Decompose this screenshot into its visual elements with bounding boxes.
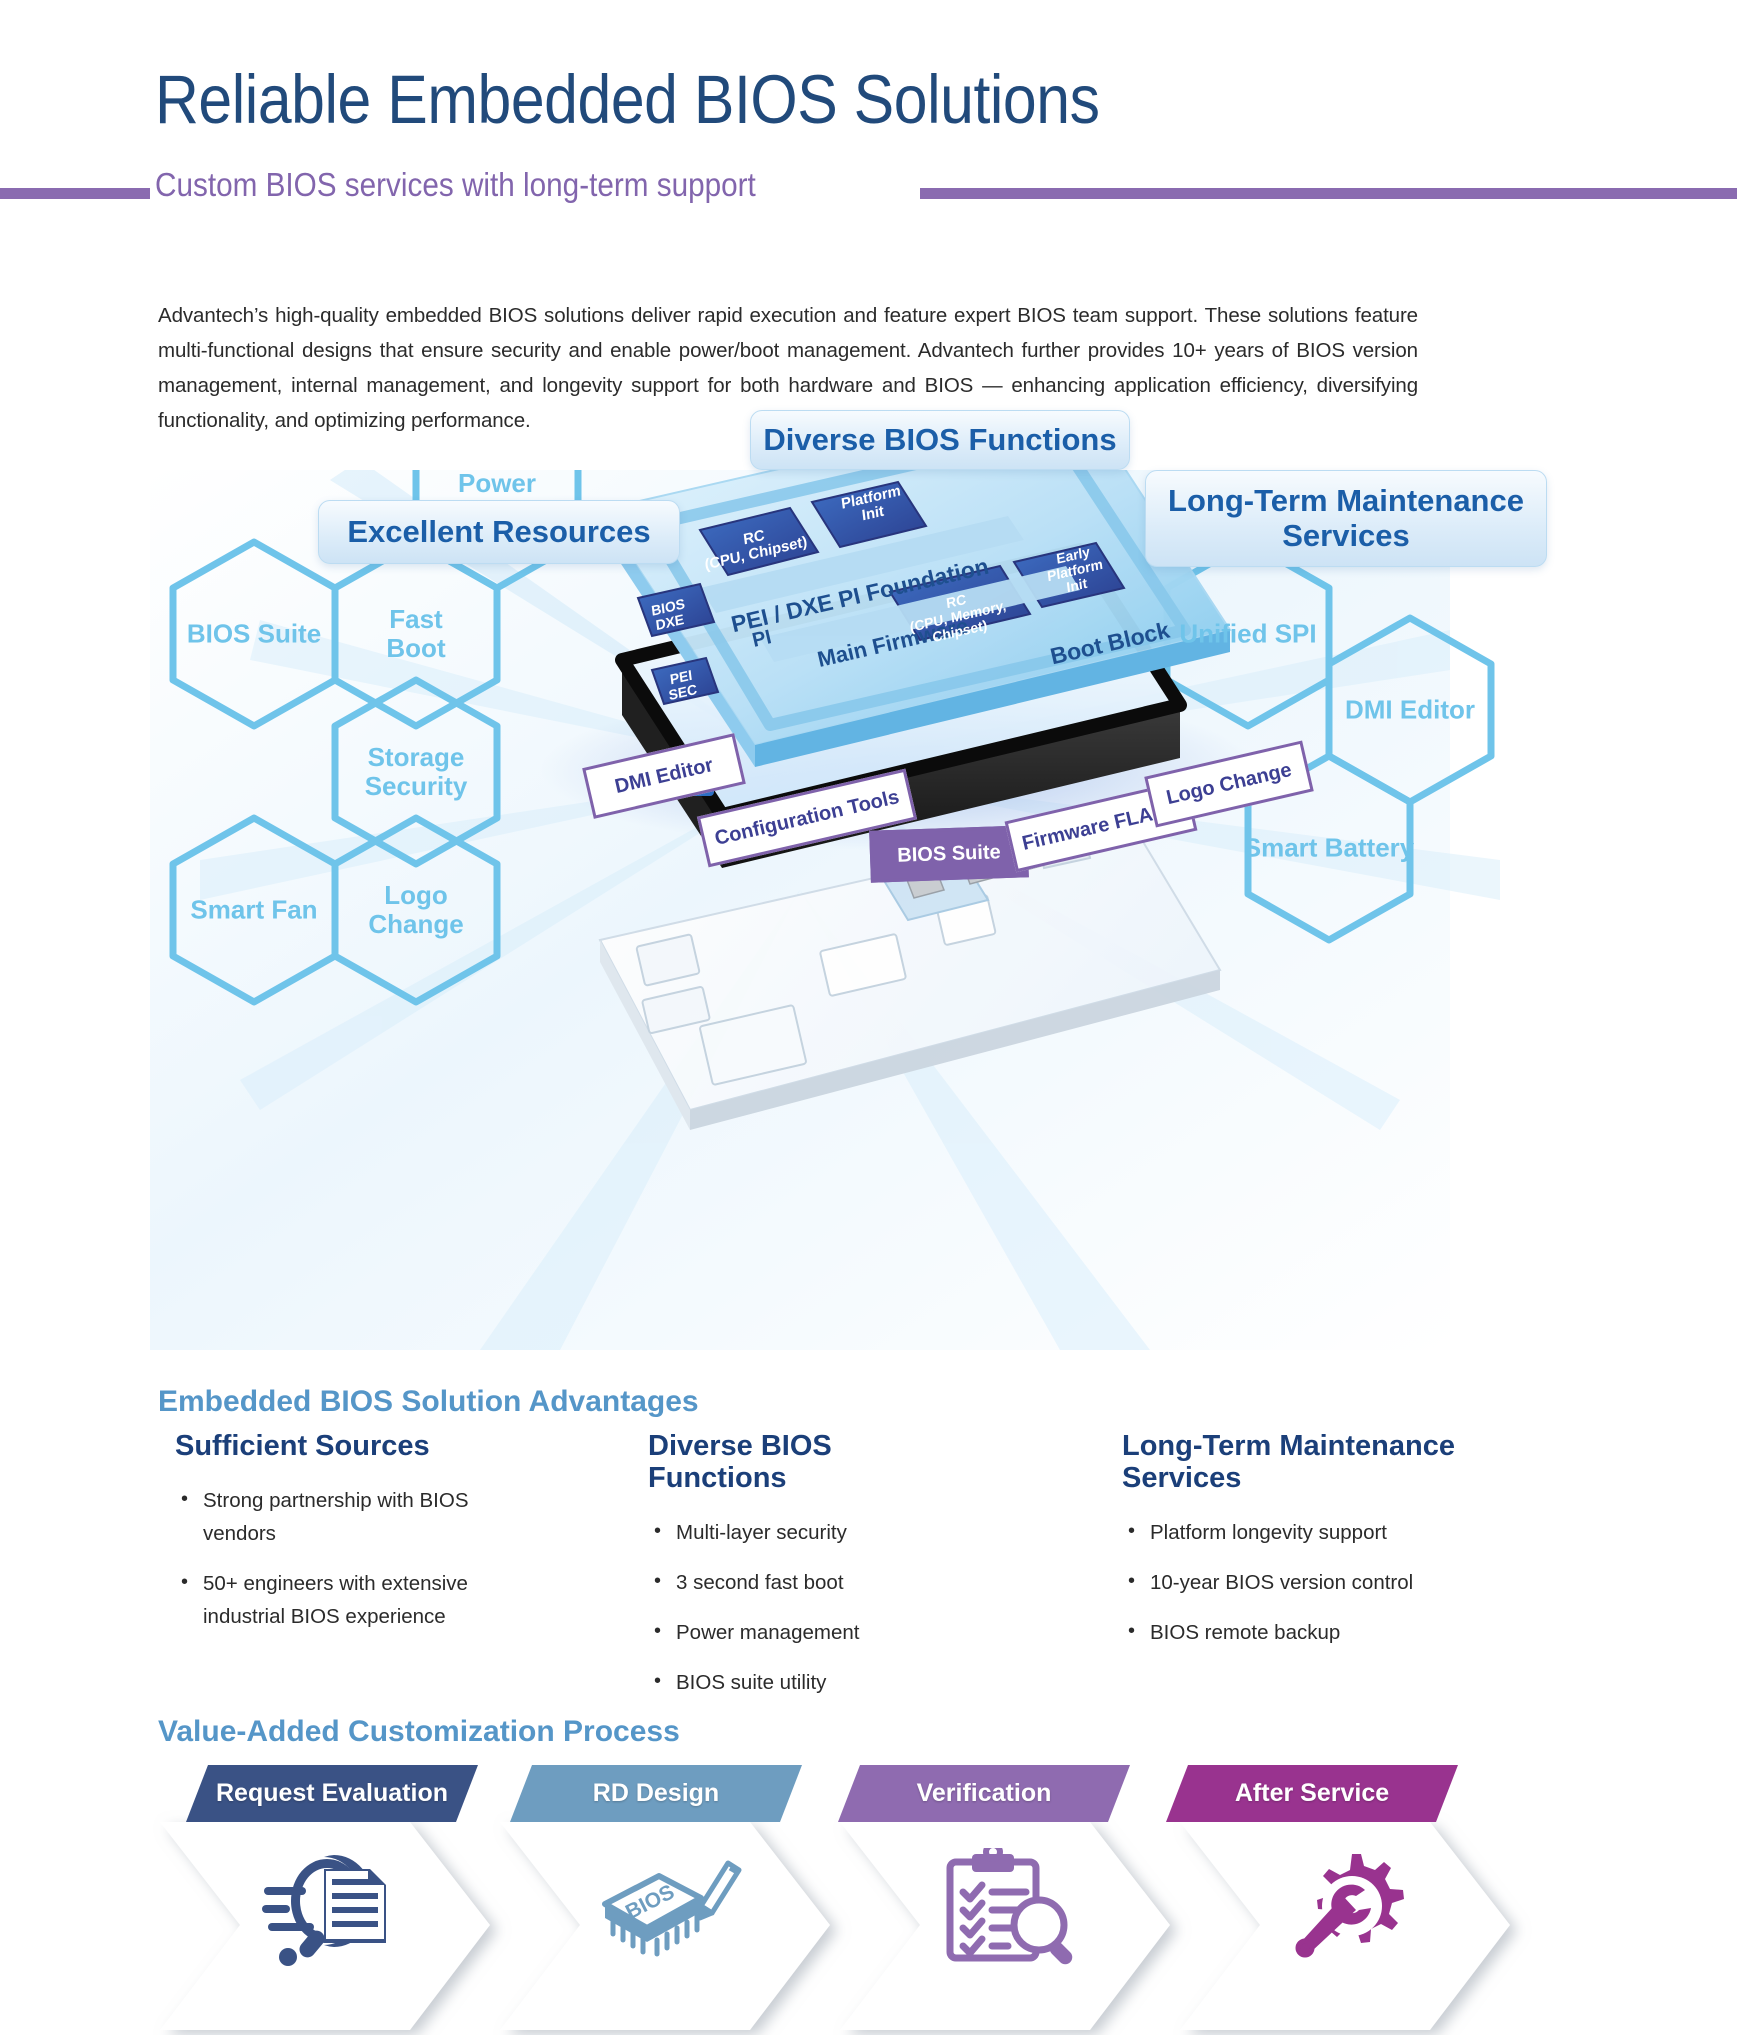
process-step-bar-verification[interactable]: Verification [838, 1765, 1130, 1822]
hex-label-line2: Change [368, 909, 463, 939]
magnifier-document-icon [262, 1849, 402, 1967]
process-icon-slot-3 [1272, 1843, 1432, 1973]
process-step-label: After Service [1235, 1779, 1389, 1808]
hex-label-line1: Fast [389, 604, 442, 634]
process-icon-slot-0 [252, 1843, 412, 1973]
list-item: Platform longevity support [1122, 1516, 1467, 1549]
advantages-column-long-term-maintenance-services: Long-Term Maintenance Services Platform … [1122, 1430, 1467, 1666]
list-item: 3 second fast boot [648, 1566, 978, 1599]
page-subtitle: Custom BIOS services with long-term supp… [155, 166, 756, 204]
hex-label-smart-battery: Smart Battery [1244, 834, 1415, 863]
advantages-list: Strong partnership with BIOS vendors 50+… [175, 1484, 505, 1633]
list-item: 10-year BIOS version control [1122, 1566, 1467, 1599]
list-item: Strong partnership with BIOS vendors [175, 1484, 505, 1550]
advantages-column-title: Diverse BIOS Functions [648, 1430, 978, 1494]
advantages-column-diverse-bios-functions: Diverse BIOS Functions Multi-layer secur… [648, 1430, 978, 1716]
list-item: Multi-layer security [648, 1516, 978, 1549]
gear-wrench-icon [1287, 1848, 1417, 1968]
hex-label-line2: Security [365, 771, 468, 801]
advantages-list: Platform longevity support 10-year BIOS … [1122, 1516, 1467, 1649]
process-step-bar-rd-design[interactable]: RD Design [510, 1765, 802, 1822]
list-item: Power management [648, 1616, 978, 1649]
hex-label-smart-fan: Smart Fan [190, 896, 317, 925]
process-step-bar-after-service[interactable]: After Service [1166, 1765, 1458, 1822]
page-header: Reliable Embedded BIOS Solutions Custom … [0, 0, 1737, 215]
advantages-list: Multi-layer security 3 second fast boot … [648, 1516, 978, 1699]
list-item: 50+ engineers with extensive industrial … [175, 1567, 505, 1633]
advantages-column-title: Sufficient Sources [175, 1430, 505, 1462]
header-rule-right [920, 188, 1737, 199]
hex-label-fast-boot: Fast Boot [386, 605, 445, 663]
process-heading: Value-Added Customization Process [158, 1715, 680, 1749]
process-icon-slot-2 [932, 1843, 1092, 1973]
hex-label-storage-security: Storage Security [365, 743, 468, 801]
bios-chip-pencil-icon: BIOS [597, 1848, 747, 1968]
hex-label-logo-change: Logo Change [368, 881, 463, 939]
process-diagram: Request Evaluation RD Design Verificatio… [0, 1765, 1737, 2035]
process-icon-slot-1: BIOS [592, 1843, 752, 1973]
callout-excellent-resources: Excellent Resources [318, 500, 680, 564]
list-item: BIOS suite utility [648, 1666, 978, 1699]
tool-tag-bios-suite: BIOS Suite [869, 825, 1029, 882]
page-title: Reliable Embedded BIOS Solutions [155, 60, 1100, 139]
hex-label-bios-suite: BIOS Suite [187, 620, 321, 649]
process-step-bar-request-evaluation[interactable]: Request Evaluation [186, 1765, 478, 1822]
advantages-heading: Embedded BIOS Solution Advantages [158, 1385, 699, 1419]
hex-label-dmi-editor: DMI Editor [1345, 696, 1475, 725]
advantages-column-sufficient-sources: Sufficient Sources Strong partnership wi… [175, 1430, 505, 1650]
callout-long-term-maintenance-services: Long-Term Maintenance Services [1145, 470, 1547, 567]
process-step-label: Request Evaluation [216, 1779, 448, 1808]
process-step-label: RD Design [593, 1779, 719, 1808]
hex-label-line1: Logo [384, 880, 448, 910]
callout-diverse-bios-functions: Diverse BIOS Functions [750, 410, 1130, 470]
hex-label-line1: Power [458, 468, 536, 498]
hex-label-line2: Boot [386, 633, 445, 663]
list-item: BIOS remote backup [1122, 1616, 1467, 1649]
hex-label-line1: Storage [368, 742, 465, 772]
hero-diagram: Power Management Fast Boot BIOS Suite St… [0, 470, 1737, 1350]
clipboard-checklist-magnifier-icon [942, 1848, 1082, 1968]
header-rule-left [0, 188, 150, 199]
process-step-label: Verification [917, 1779, 1052, 1808]
advantages-column-title: Long-Term Maintenance Services [1122, 1430, 1467, 1494]
